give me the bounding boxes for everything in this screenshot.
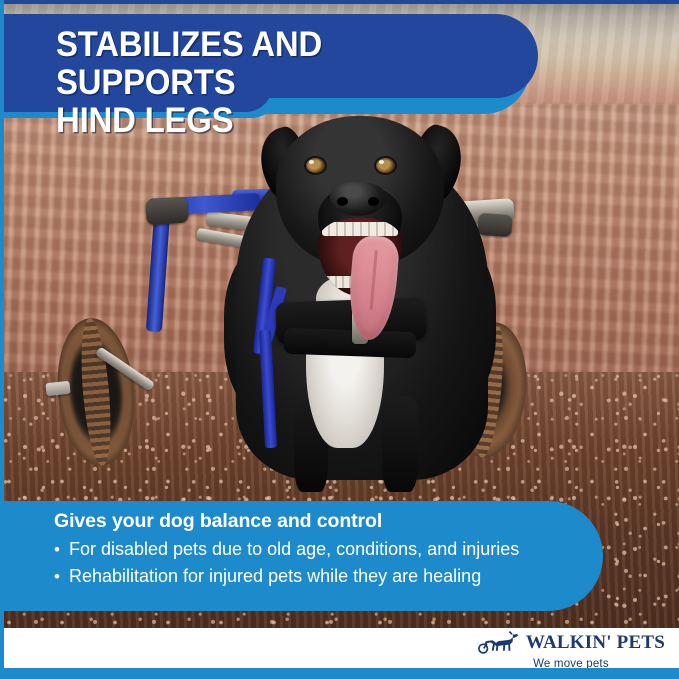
bullet-dot-icon: • [54, 536, 60, 563]
list-item: • For disabled pets due to old age, cond… [54, 536, 574, 563]
brand-logo: WALKIN' PETS We move pets [477, 630, 665, 671]
wheelchair-knob-right [477, 213, 512, 237]
benefit-text-2: Rehabilitation for injured pets while th… [69, 563, 481, 590]
benefits-bullet-list: • For disabled pets due to old age, cond… [54, 536, 574, 590]
walkin-pets-dog-wheelchair-icon [477, 630, 521, 655]
header-headline-line-1: STABILIZES AND SUPPORTS [56, 26, 498, 102]
dog-harness-lower [284, 328, 417, 359]
dog-left-eye [306, 158, 325, 173]
bullet-dot-icon: • [54, 563, 60, 590]
bottom-accent-bar [0, 668, 679, 679]
brand-logo-row: WALKIN' PETS [477, 630, 665, 655]
left-accent-edge [0, 0, 4, 679]
top-accent-strip [0, 0, 679, 4]
product-feature-image: STABILIZES AND SUPPORTS HIND LEGS Gives … [0, 0, 679, 679]
dog-upper-teeth [322, 222, 398, 236]
list-item: • Rehabilitation for injured pets while … [54, 563, 574, 590]
dog-right-eye [376, 158, 395, 173]
brand-name: WALKIN' PETS [526, 633, 665, 652]
header-headline: STABILIZES AND SUPPORTS HIND LEGS [56, 26, 498, 140]
benefits-headline: Gives your dog balance and control [54, 510, 382, 533]
wheelchair-left-hub [45, 381, 70, 396]
header-headline-line-2: HIND LEGS [56, 102, 498, 140]
wheelchair-knob-left [145, 197, 189, 226]
dog-front-right-leg [382, 396, 418, 492]
benefit-text-1: For disabled pets due to old age, condit… [69, 536, 519, 563]
